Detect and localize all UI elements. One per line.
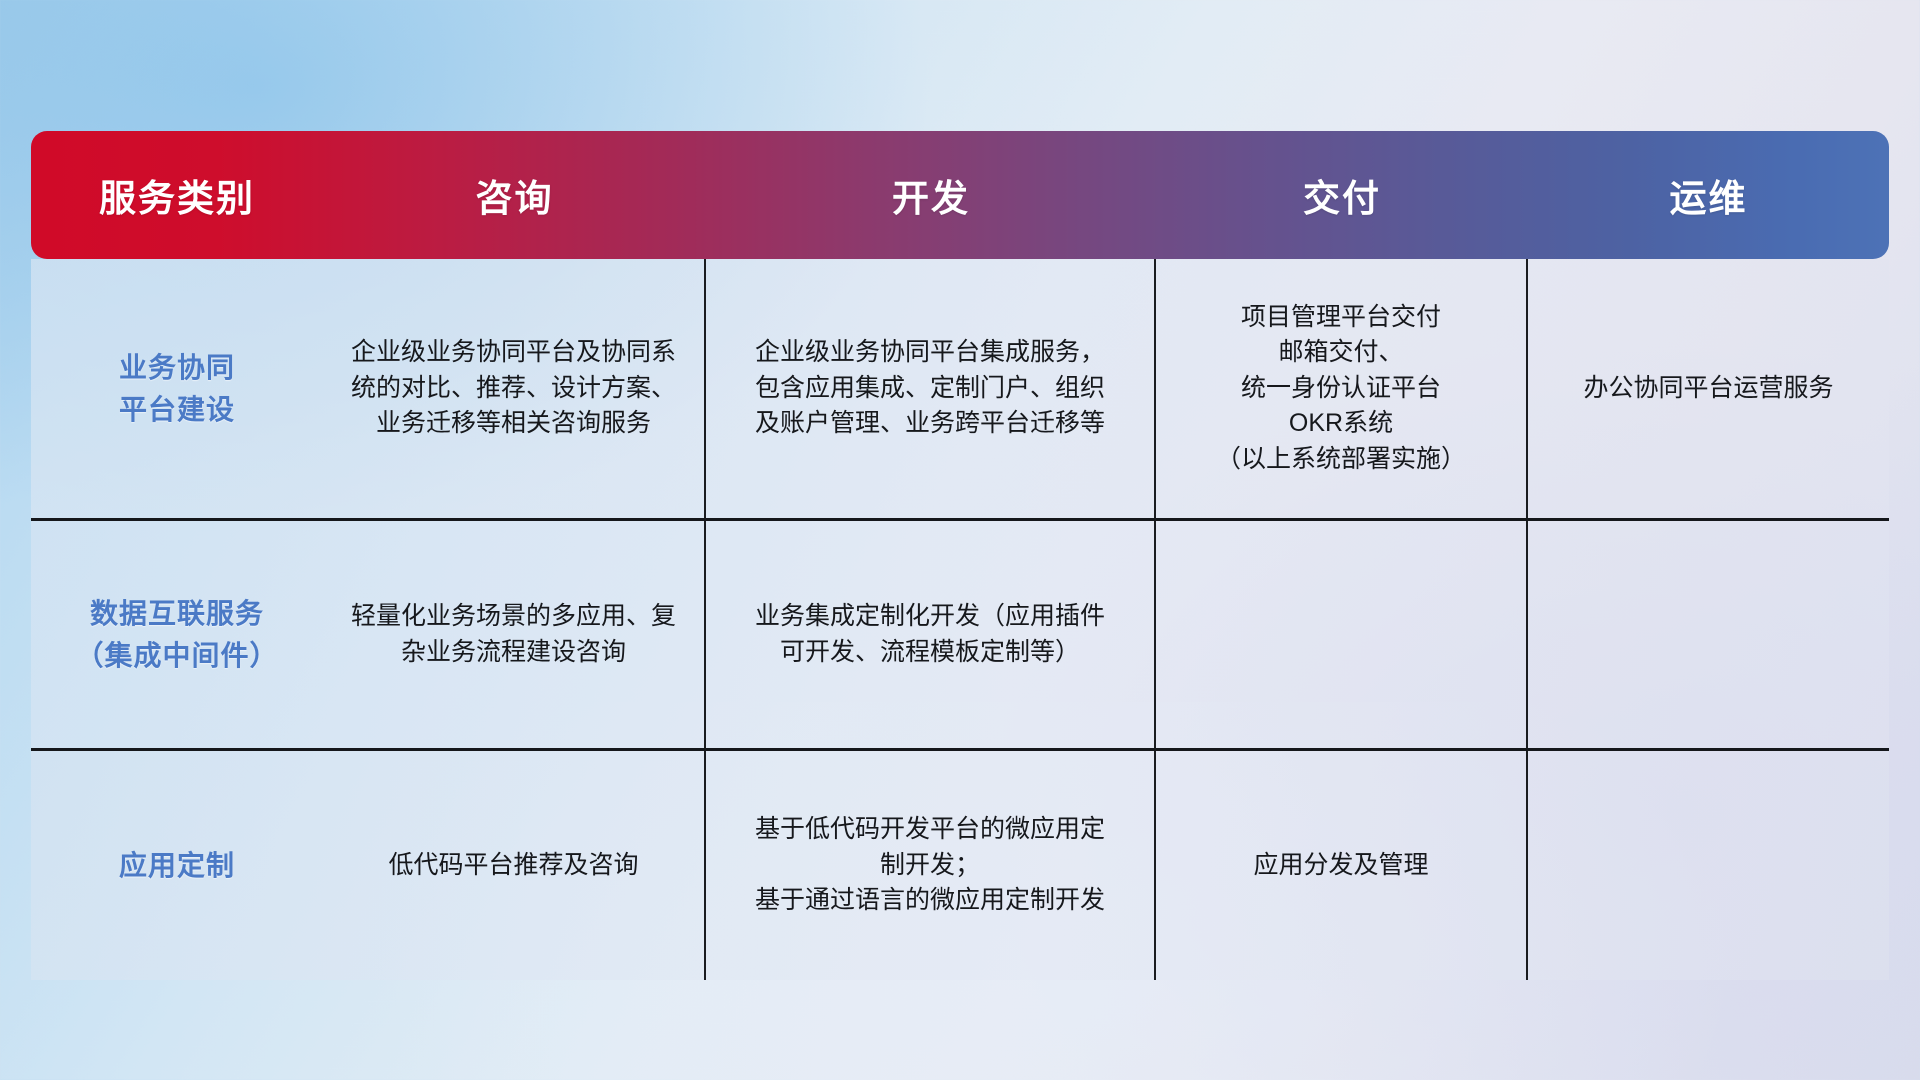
row-category-label: 数据互联服务 （集成中间件） [31, 521, 323, 751]
column-header-operations: 运维 [1528, 131, 1889, 259]
cell-delivery: 应用分发及管理 [1156, 751, 1528, 980]
row-category-label: 业务协同 平台建设 [31, 259, 323, 521]
cell-text: 轻量化业务场景的多应用、复 杂业务流程建设咨询 [339, 599, 688, 670]
table-header: 服务类别 咨询 开发 交付 运维 [31, 131, 1889, 259]
column-header-category-label: 服务类别 [31, 168, 323, 222]
table-body: 业务协同 平台建设 企业级业务协同平台及协同系 统的对比、推荐、设计方案、 业务… [31, 259, 1889, 980]
cell-delivery: 项目管理平台交付 邮箱交付、 统一身份认证平台 OKR系统 （以上系统部署实施） [1156, 259, 1528, 521]
cell-development: 业务集成定制化开发（应用插件 可开发、流程模板定制等） [706, 521, 1156, 751]
cell-text: 低代码平台推荐及咨询 [339, 848, 688, 884]
cell-text: 基于低代码开发平台的微应用定 制开发； 基于通过语言的微应用定制开发 [722, 812, 1138, 919]
cell-text: 业务协同 平台建设 [47, 347, 307, 431]
column-header-consulting: 咨询 [323, 131, 706, 259]
service-matrix-table: 服务类别 咨询 开发 交付 运维 [31, 131, 1889, 980]
table-row: 应用定制 低代码平台推荐及咨询 基于低代码开发平台的微应用定 制开发； 基于通过… [31, 751, 1889, 980]
column-header-development: 开发 [706, 131, 1156, 259]
column-header-category: 服务类别 [31, 131, 323, 259]
cell-text: 业务集成定制化开发（应用插件 可开发、流程模板定制等） [722, 599, 1138, 670]
cell-consulting: 企业级业务协同平台及协同系 统的对比、推荐、设计方案、 业务迁移等相关咨询服务 [323, 259, 706, 521]
cell-development: 企业级业务协同平台集成服务， 包含应用集成、定制门户、组织 及账户管理、业务跨平… [706, 259, 1156, 521]
cell-text: 数据互联服务 （集成中间件） [47, 593, 307, 677]
column-header-delivery: 交付 [1156, 131, 1528, 259]
cell-operations [1528, 751, 1889, 980]
cell-text: 应用定制 [47, 845, 307, 887]
column-header-consulting-label: 咨询 [323, 168, 706, 222]
slide-canvas: 服务类别 咨询 开发 交付 运维 [0, 0, 1920, 1080]
cell-text: 企业级业务协同平台及协同系 统的对比、推荐、设计方案、 业务迁移等相关咨询服务 [339, 335, 688, 442]
service-matrix-table-container: 服务类别 咨询 开发 交付 运维 [31, 131, 1889, 950]
cell-operations: 办公协同平台运营服务 [1528, 259, 1889, 521]
column-header-development-label: 开发 [706, 168, 1156, 222]
cell-text: 应用分发及管理 [1172, 848, 1510, 884]
table-row: 业务协同 平台建设 企业级业务协同平台及协同系 统的对比、推荐、设计方案、 业务… [31, 259, 1889, 521]
cell-text: 办公协同平台运营服务 [1544, 371, 1873, 407]
column-header-delivery-label: 交付 [1156, 168, 1528, 222]
cell-delivery [1156, 521, 1528, 751]
cell-consulting: 轻量化业务场景的多应用、复 杂业务流程建设咨询 [323, 521, 706, 751]
row-category-label: 应用定制 [31, 751, 323, 980]
table-header-row: 服务类别 咨询 开发 交付 运维 [31, 131, 1889, 259]
cell-text: 项目管理平台交付 邮箱交付、 统一身份认证平台 OKR系统 （以上系统部署实施） [1172, 300, 1510, 478]
cell-development: 基于低代码开发平台的微应用定 制开发； 基于通过语言的微应用定制开发 [706, 751, 1156, 980]
column-header-operations-label: 运维 [1528, 168, 1889, 222]
cell-consulting: 低代码平台推荐及咨询 [323, 751, 706, 980]
cell-operations [1528, 521, 1889, 751]
cell-text: 企业级业务协同平台集成服务， 包含应用集成、定制门户、组织 及账户管理、业务跨平… [722, 335, 1138, 442]
table-row: 数据互联服务 （集成中间件） 轻量化业务场景的多应用、复 杂业务流程建设咨询 业… [31, 521, 1889, 751]
